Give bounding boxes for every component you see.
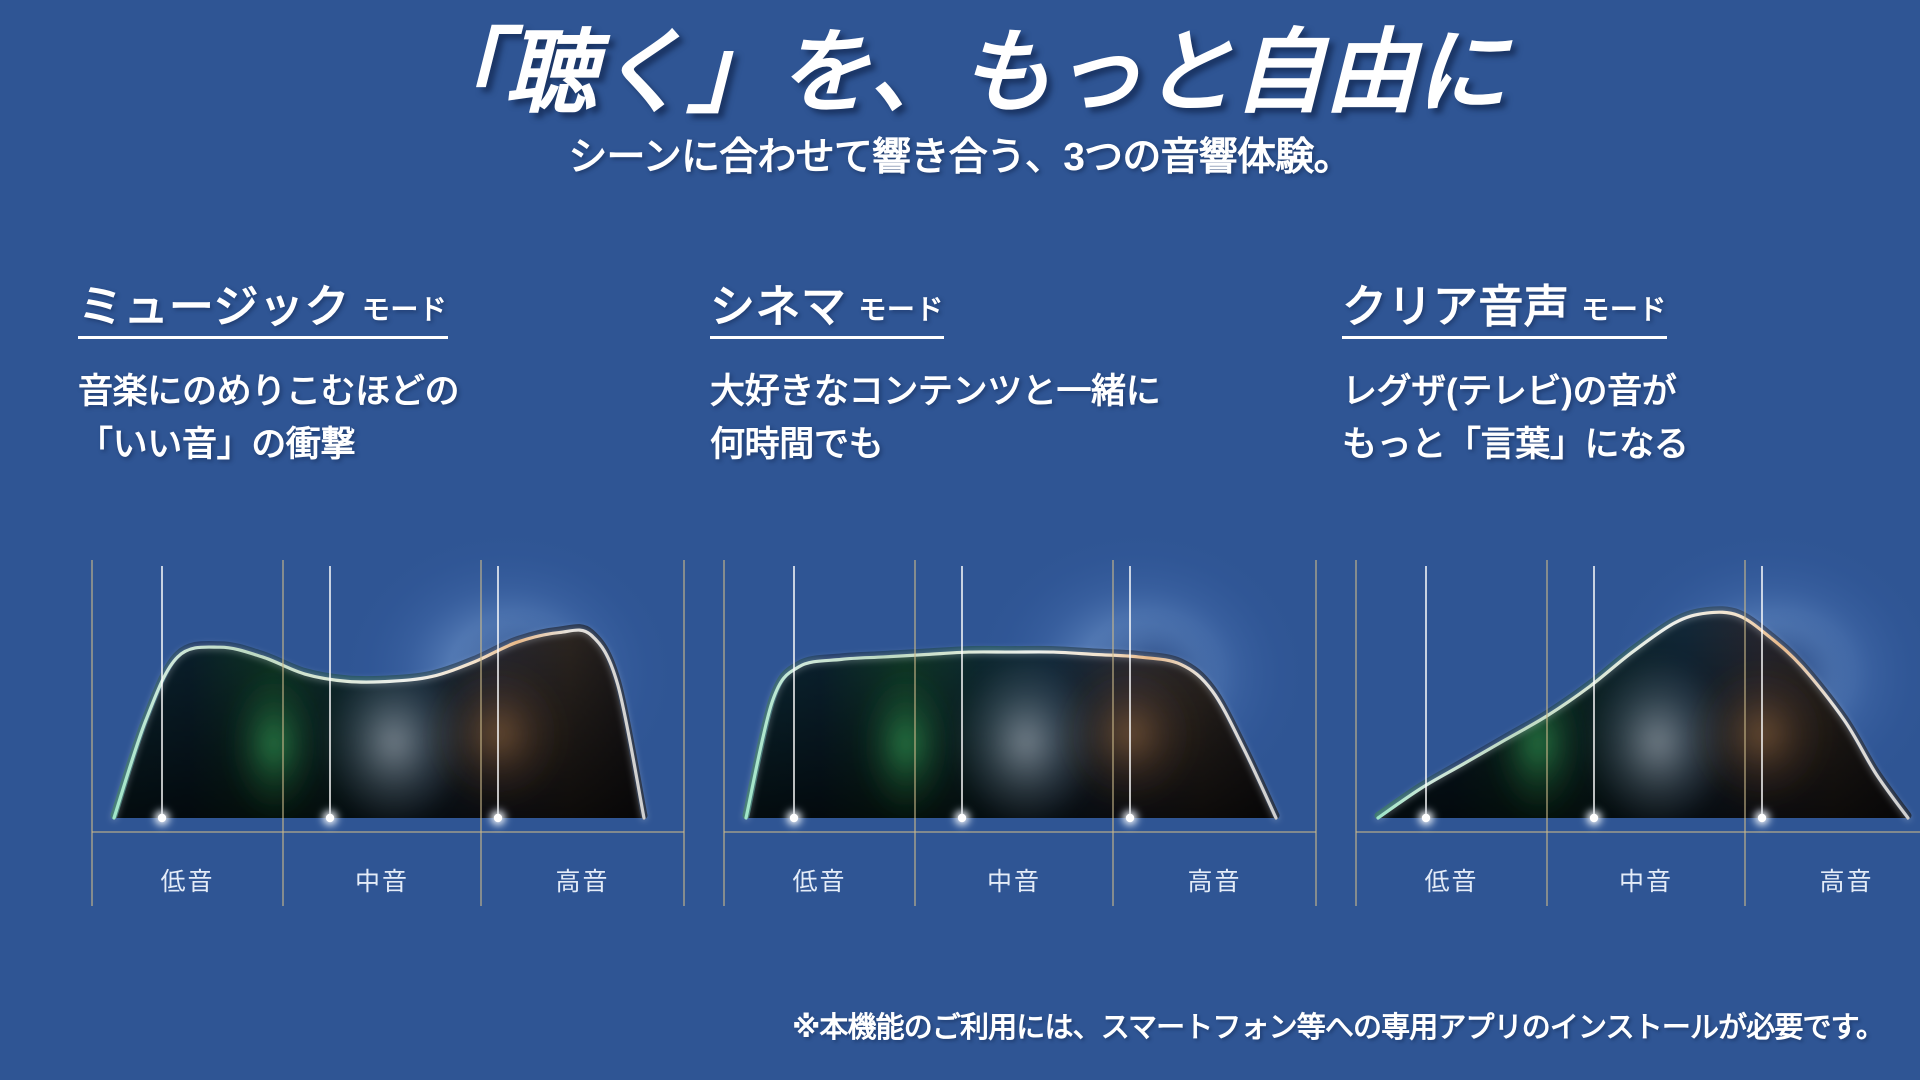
mode-name-clear-voice: クリア音声 bbox=[1342, 281, 1569, 332]
band-label-low: 低音 bbox=[128, 862, 248, 898]
eq-chart-cinema-svg bbox=[710, 556, 1330, 908]
mode-heading-music: ミュージックモード bbox=[78, 284, 448, 339]
eq-graphs: 低音 中音 高音 低音 中音 高音 低音 中音 高音 bbox=[0, 556, 1920, 908]
band-label-high: 高音 bbox=[523, 862, 643, 898]
header: 「聴く」を、もっと自由に シーンに合わせて響き合う、3つの音響体験。 bbox=[0, 0, 1920, 180]
mode-suffix-music: モード bbox=[350, 294, 448, 325]
mode-desc-line2: もっと「言葉」になる bbox=[1342, 418, 1920, 471]
band-label-low: 低音 bbox=[1392, 862, 1512, 898]
mode-suffix-cinema: モード bbox=[846, 294, 944, 325]
mode-column-clear-voice: クリア音声モード レグザ(テレビ)の音が もっと「言葉」になる bbox=[1342, 284, 1920, 471]
band-label-high: 高音 bbox=[1787, 862, 1907, 898]
band-label-mid: 中音 bbox=[1586, 862, 1706, 898]
eq-graph-cinema: 低音 中音 高音 bbox=[710, 556, 1330, 908]
mode-desc-line1: 大好きなコンテンツと一緒に bbox=[710, 372, 1160, 411]
mode-desc-line2: 「いい音」の衝撃 bbox=[78, 418, 698, 471]
mode-name-cinema: シネマ bbox=[710, 281, 846, 332]
mode-suffix-clear-voice: モード bbox=[1569, 294, 1667, 325]
mode-column-music: ミュージックモード 音楽にのめりこむほどの 「いい音」の衝撃 bbox=[78, 284, 698, 471]
eq-graph-clear-voice: 低音 中音 高音 bbox=[1342, 556, 1920, 908]
footnote: ※本機能のご利用には、スマートフォン等への専用アプリのインストールが必要です。 bbox=[792, 1004, 1884, 1046]
mode-heading-clear-voice: クリア音声モード bbox=[1342, 284, 1667, 339]
eq-chart-clear-voice-svg bbox=[1342, 556, 1920, 908]
mode-desc-clear-voice: レグザ(テレビ)の音が もっと「言葉」になる bbox=[1342, 339, 1920, 471]
page-subtitle: シーンに合わせて響き合う、3つの音響体験。 bbox=[0, 123, 1920, 180]
mode-desc-line1: 音楽にのめりこむほどの bbox=[78, 372, 459, 411]
mode-heading-cinema: シネマモード bbox=[710, 284, 944, 339]
eq-graph-music: 低音 中音 高音 bbox=[78, 556, 698, 908]
band-label-mid: 中音 bbox=[954, 862, 1074, 898]
mode-columns: ミュージックモード 音楽にのめりこむほどの 「いい音」の衝撃 シネマモード 大好… bbox=[0, 284, 1920, 471]
eq-chart-music-svg bbox=[78, 556, 698, 908]
band-label-mid: 中音 bbox=[322, 862, 442, 898]
mode-desc-cinema: 大好きなコンテンツと一緒に 何時間でも bbox=[710, 339, 1330, 471]
mode-desc-line2: 何時間でも bbox=[710, 418, 1330, 471]
band-label-high: 高音 bbox=[1155, 862, 1275, 898]
band-label-low: 低音 bbox=[760, 862, 880, 898]
mode-desc-music: 音楽にのめりこむほどの 「いい音」の衝撃 bbox=[78, 339, 698, 471]
mode-name-music: ミュージック bbox=[78, 281, 350, 332]
mode-desc-line1: レグザ(テレビ)の音が bbox=[1342, 372, 1676, 411]
page-title: 「聴く」を、もっと自由に bbox=[0, 0, 1920, 123]
mode-column-cinema: シネマモード 大好きなコンテンツと一緒に 何時間でも bbox=[710, 284, 1330, 471]
